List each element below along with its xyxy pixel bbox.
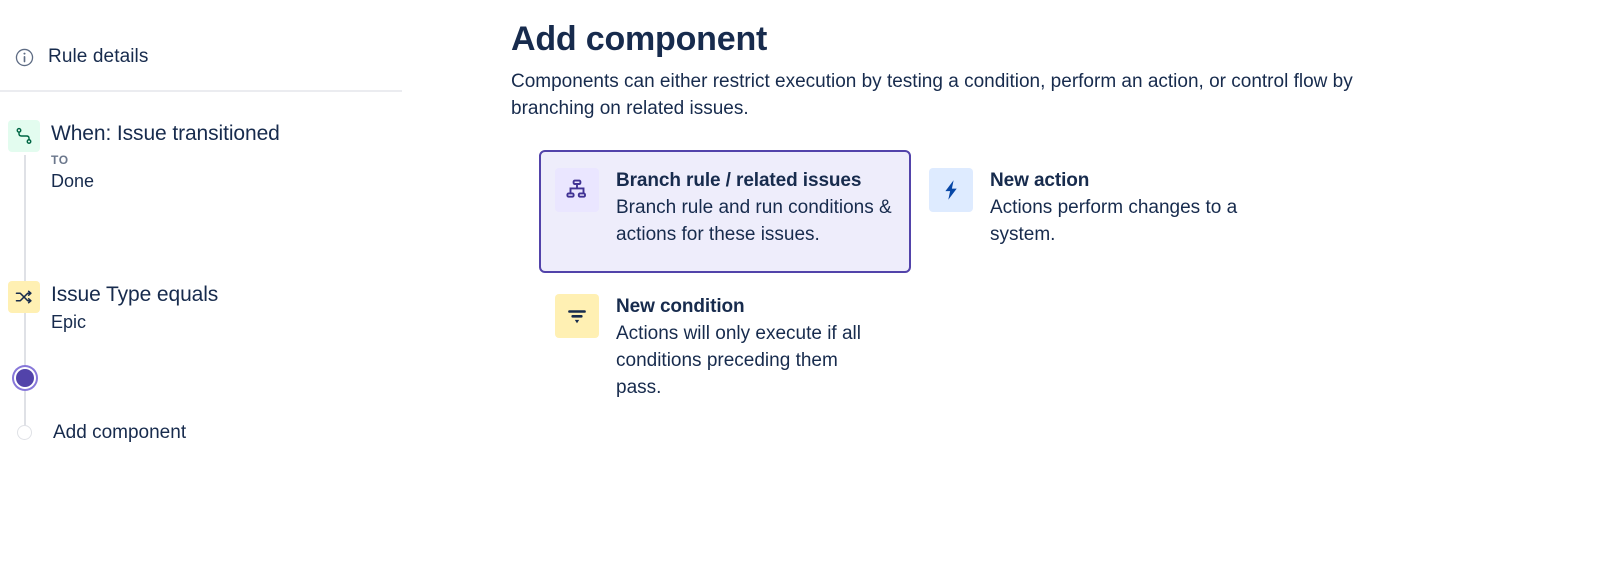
timeline-node-trigger[interactable]: When: Issue transitioned TO Done [0, 120, 280, 192]
rule-details-label: Rule details [48, 46, 148, 68]
trigger-sublabel: TO [51, 153, 280, 167]
option-title: New action [990, 168, 1270, 193]
option-card-branch-rule[interactable]: Branch rule / related issues Branch rule… [539, 150, 911, 273]
page-description: Components can either restrict execution… [511, 68, 1411, 122]
option-description: Branch rule and run conditions & actions… [616, 194, 895, 248]
condition-title: Issue Type equals [51, 283, 218, 306]
condition-subvalue: Epic [51, 311, 218, 333]
trigger-title: When: Issue transitioned [51, 122, 280, 145]
rule-timeline-sidebar: Rule details When: Issue transitioned TO… [0, 0, 470, 572]
trigger-subvalue: Done [51, 170, 280, 192]
option-card-new-condition[interactable]: New condition Actions will only execute … [553, 285, 925, 415]
timeline-connector-line [24, 388, 26, 426]
timeline-node-condition[interactable]: Issue Type equals Epic [0, 281, 218, 333]
component-options-list: Branch rule / related issues Branch rule… [511, 150, 1511, 420]
option-body: New condition Actions will only execute … [616, 294, 888, 401]
option-body: New action Actions perform changes to a … [990, 168, 1270, 248]
option-title: New condition [616, 294, 888, 319]
option-card-new-action[interactable]: New action Actions perform changes to a … [927, 159, 1287, 269]
timeline-empty-dot[interactable] [17, 425, 32, 440]
page-title: Add component [511, 0, 1511, 60]
add-component-panel: Add component Components can either rest… [511, 0, 1511, 420]
option-description: Actions will only execute if all conditi… [616, 320, 888, 401]
sidebar-divider [0, 90, 402, 92]
timeline-node-text: Issue Type equals Epic [51, 281, 218, 333]
hierarchy-icon [555, 168, 599, 212]
timeline-node-text: When: Issue transitioned TO Done [51, 120, 280, 192]
info-circle-icon [0, 47, 48, 68]
lightning-bolt-icon [929, 168, 973, 212]
sidebar-item-rule-details[interactable]: Rule details [0, 42, 148, 72]
filter-icon [555, 294, 599, 338]
timeline-active-dot[interactable] [16, 369, 34, 387]
shuffle-arrows-icon [8, 281, 40, 313]
transition-path-icon [8, 120, 40, 152]
option-title: Branch rule / related issues [616, 168, 895, 193]
option-body: Branch rule / related issues Branch rule… [616, 168, 895, 248]
sidebar-add-component-label[interactable]: Add component [53, 421, 186, 445]
option-description: Actions perform changes to a system. [990, 194, 1270, 248]
